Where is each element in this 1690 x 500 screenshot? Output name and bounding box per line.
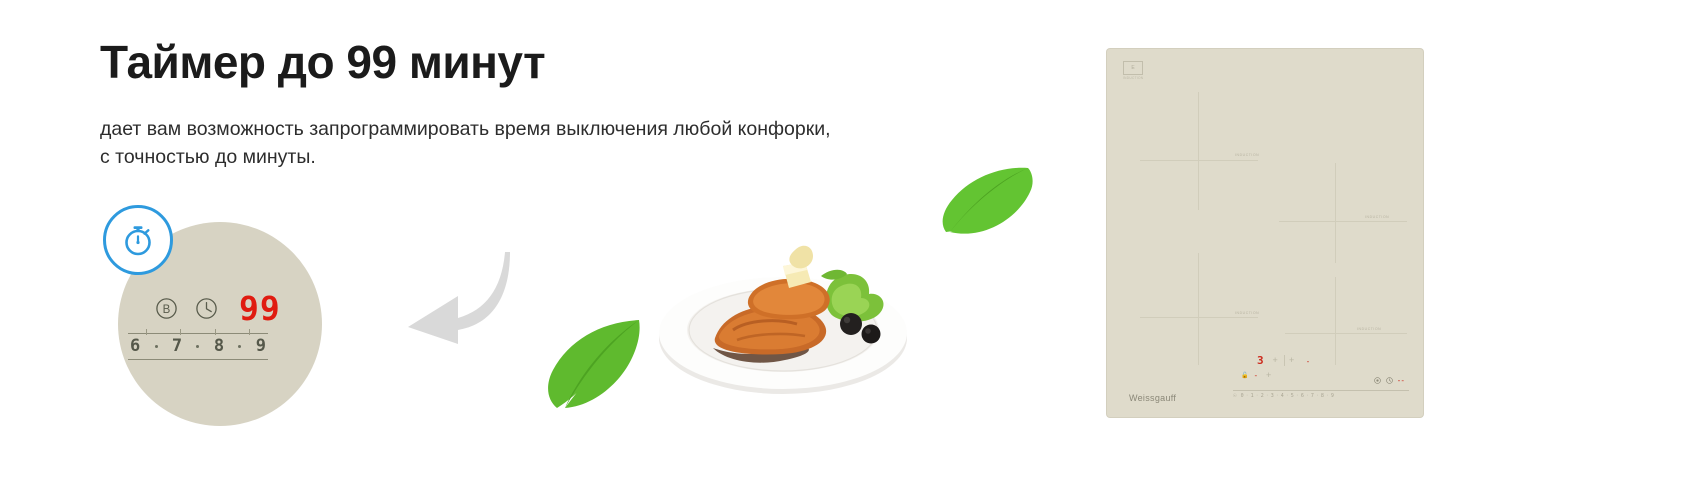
scale-sep: ·	[1256, 393, 1259, 399]
slider-dot	[238, 345, 241, 348]
zone-divider	[1140, 160, 1258, 161]
scale-sep: ·	[1246, 393, 1249, 399]
cooktop-badge: E	[1123, 61, 1143, 75]
brand-logo: Weissgauff	[1129, 393, 1176, 403]
zone-divider	[1279, 221, 1407, 222]
clock-icon[interactable]	[1386, 371, 1393, 389]
minus-key-red-1[interactable]: -	[1307, 358, 1310, 366]
slider-value-1: 7	[172, 336, 182, 356]
control-main-row: 3 + + -	[1257, 355, 1309, 366]
scale-sep: ·	[1266, 393, 1269, 399]
scale-2: 2	[1261, 393, 1264, 399]
scale-sep: ·	[1276, 393, 1279, 399]
zone-divider	[1198, 253, 1199, 365]
control-plus-keys: + +	[1268, 355, 1299, 366]
page-title: Таймер до 99 минут	[100, 36, 960, 89]
slider-rule-bottom	[128, 359, 268, 360]
zone-divider	[1285, 333, 1407, 334]
scale-sep: ·	[1316, 393, 1319, 399]
zone-divider	[1335, 163, 1336, 263]
zone-label-4: INDUCTION	[1357, 327, 1381, 331]
zone-divider	[1198, 92, 1199, 210]
scale-0: 0	[1241, 393, 1244, 399]
basil-leaf-icon	[940, 166, 1038, 243]
text-block: Таймер до 99 минут дает вам возможность …	[100, 36, 960, 171]
plus-key-3[interactable]: +	[1261, 370, 1276, 381]
zone-label-2: INDUCTION	[1365, 215, 1389, 219]
timer-readout: B 99	[155, 292, 281, 325]
slider-value-2: 8	[214, 336, 224, 356]
plus-key-1[interactable]: +	[1268, 355, 1283, 366]
scale-sep: ·	[1306, 393, 1309, 399]
scale-sep: ·	[1296, 393, 1299, 399]
scale-6: 6	[1301, 393, 1304, 399]
zone-label-1: INDUCTION	[1235, 153, 1259, 157]
cooktop-control-panel[interactable]: 3 + + - 🔓 - +	[1233, 355, 1409, 399]
slider-dot	[196, 345, 199, 348]
promo-banner: Таймер до 99 минут дает вам возможность …	[0, 0, 1690, 500]
clock-icon	[195, 297, 218, 320]
subtitle-line-1: дает вам возможность запрограммировать в…	[100, 115, 920, 143]
lock-icon[interactable]: 🔓	[1241, 372, 1248, 379]
zone-divider	[1335, 277, 1336, 365]
power-slider[interactable]: 6 7 8 9	[128, 333, 268, 360]
curved-arrow-left-icon	[398, 244, 510, 349]
subtitle: дает вам возможность запрограммировать в…	[100, 115, 920, 172]
power-level-display: 3	[1257, 355, 1264, 366]
stopwatch-icon	[119, 221, 157, 259]
scale-3: 3	[1271, 393, 1274, 399]
subtitle-line-2: с точностью до минуты.	[100, 143, 920, 171]
timer-display-value: 99	[239, 292, 281, 325]
scale-1: 1	[1251, 393, 1254, 399]
slider-ticks: 6 7 8 9	[128, 334, 268, 358]
double-dash-indicator: --	[1398, 376, 1405, 385]
minus-key-red-2[interactable]: -	[1254, 371, 1257, 380]
scale-sep: ·	[1286, 393, 1289, 399]
control-scale[interactable]: ☉ 0 · 1 · 2 · 3 · 4 · 5 · 6 · 7 ·	[1233, 390, 1409, 399]
scale-lock-icon[interactable]: ☉	[1233, 392, 1237, 399]
plus-key-2[interactable]: +	[1284, 355, 1299, 366]
induction-cooktop: E INDUCTION INDUCTION INDUCTION INDUCTIO…	[1107, 49, 1423, 417]
slider-value-3: 9	[256, 336, 266, 356]
zone-label-3: INDUCTION	[1235, 311, 1259, 315]
scale-sep: ·	[1326, 393, 1329, 399]
control-icons: --	[1374, 371, 1405, 389]
scale-5: 5	[1291, 393, 1294, 399]
scale-9: 9	[1331, 393, 1334, 399]
zone-divider	[1140, 317, 1258, 318]
control-scale-numbers: ☉ 0 · 1 · 2 · 3 · 4 · 5 · 6 · 7 ·	[1233, 391, 1409, 399]
svg-text:B: B	[163, 304, 171, 316]
stopwatch-badge	[103, 205, 173, 275]
slider-dot	[155, 345, 158, 348]
scale-4: 4	[1281, 393, 1284, 399]
scale-7: 7	[1311, 393, 1314, 399]
control-secondary-row: 🔓 - +	[1241, 370, 1276, 381]
b-indicator-icon: B	[155, 297, 178, 320]
timer-icon[interactable]	[1374, 371, 1381, 389]
slider-value-0: 6	[130, 336, 140, 356]
steak-plate-photo	[655, 220, 920, 400]
cooktop-badge-sub: INDUCTION	[1123, 76, 1143, 80]
scale-8: 8	[1321, 393, 1324, 399]
basil-leaf-icon	[543, 318, 643, 415]
slider-tick-marks	[128, 329, 268, 335]
